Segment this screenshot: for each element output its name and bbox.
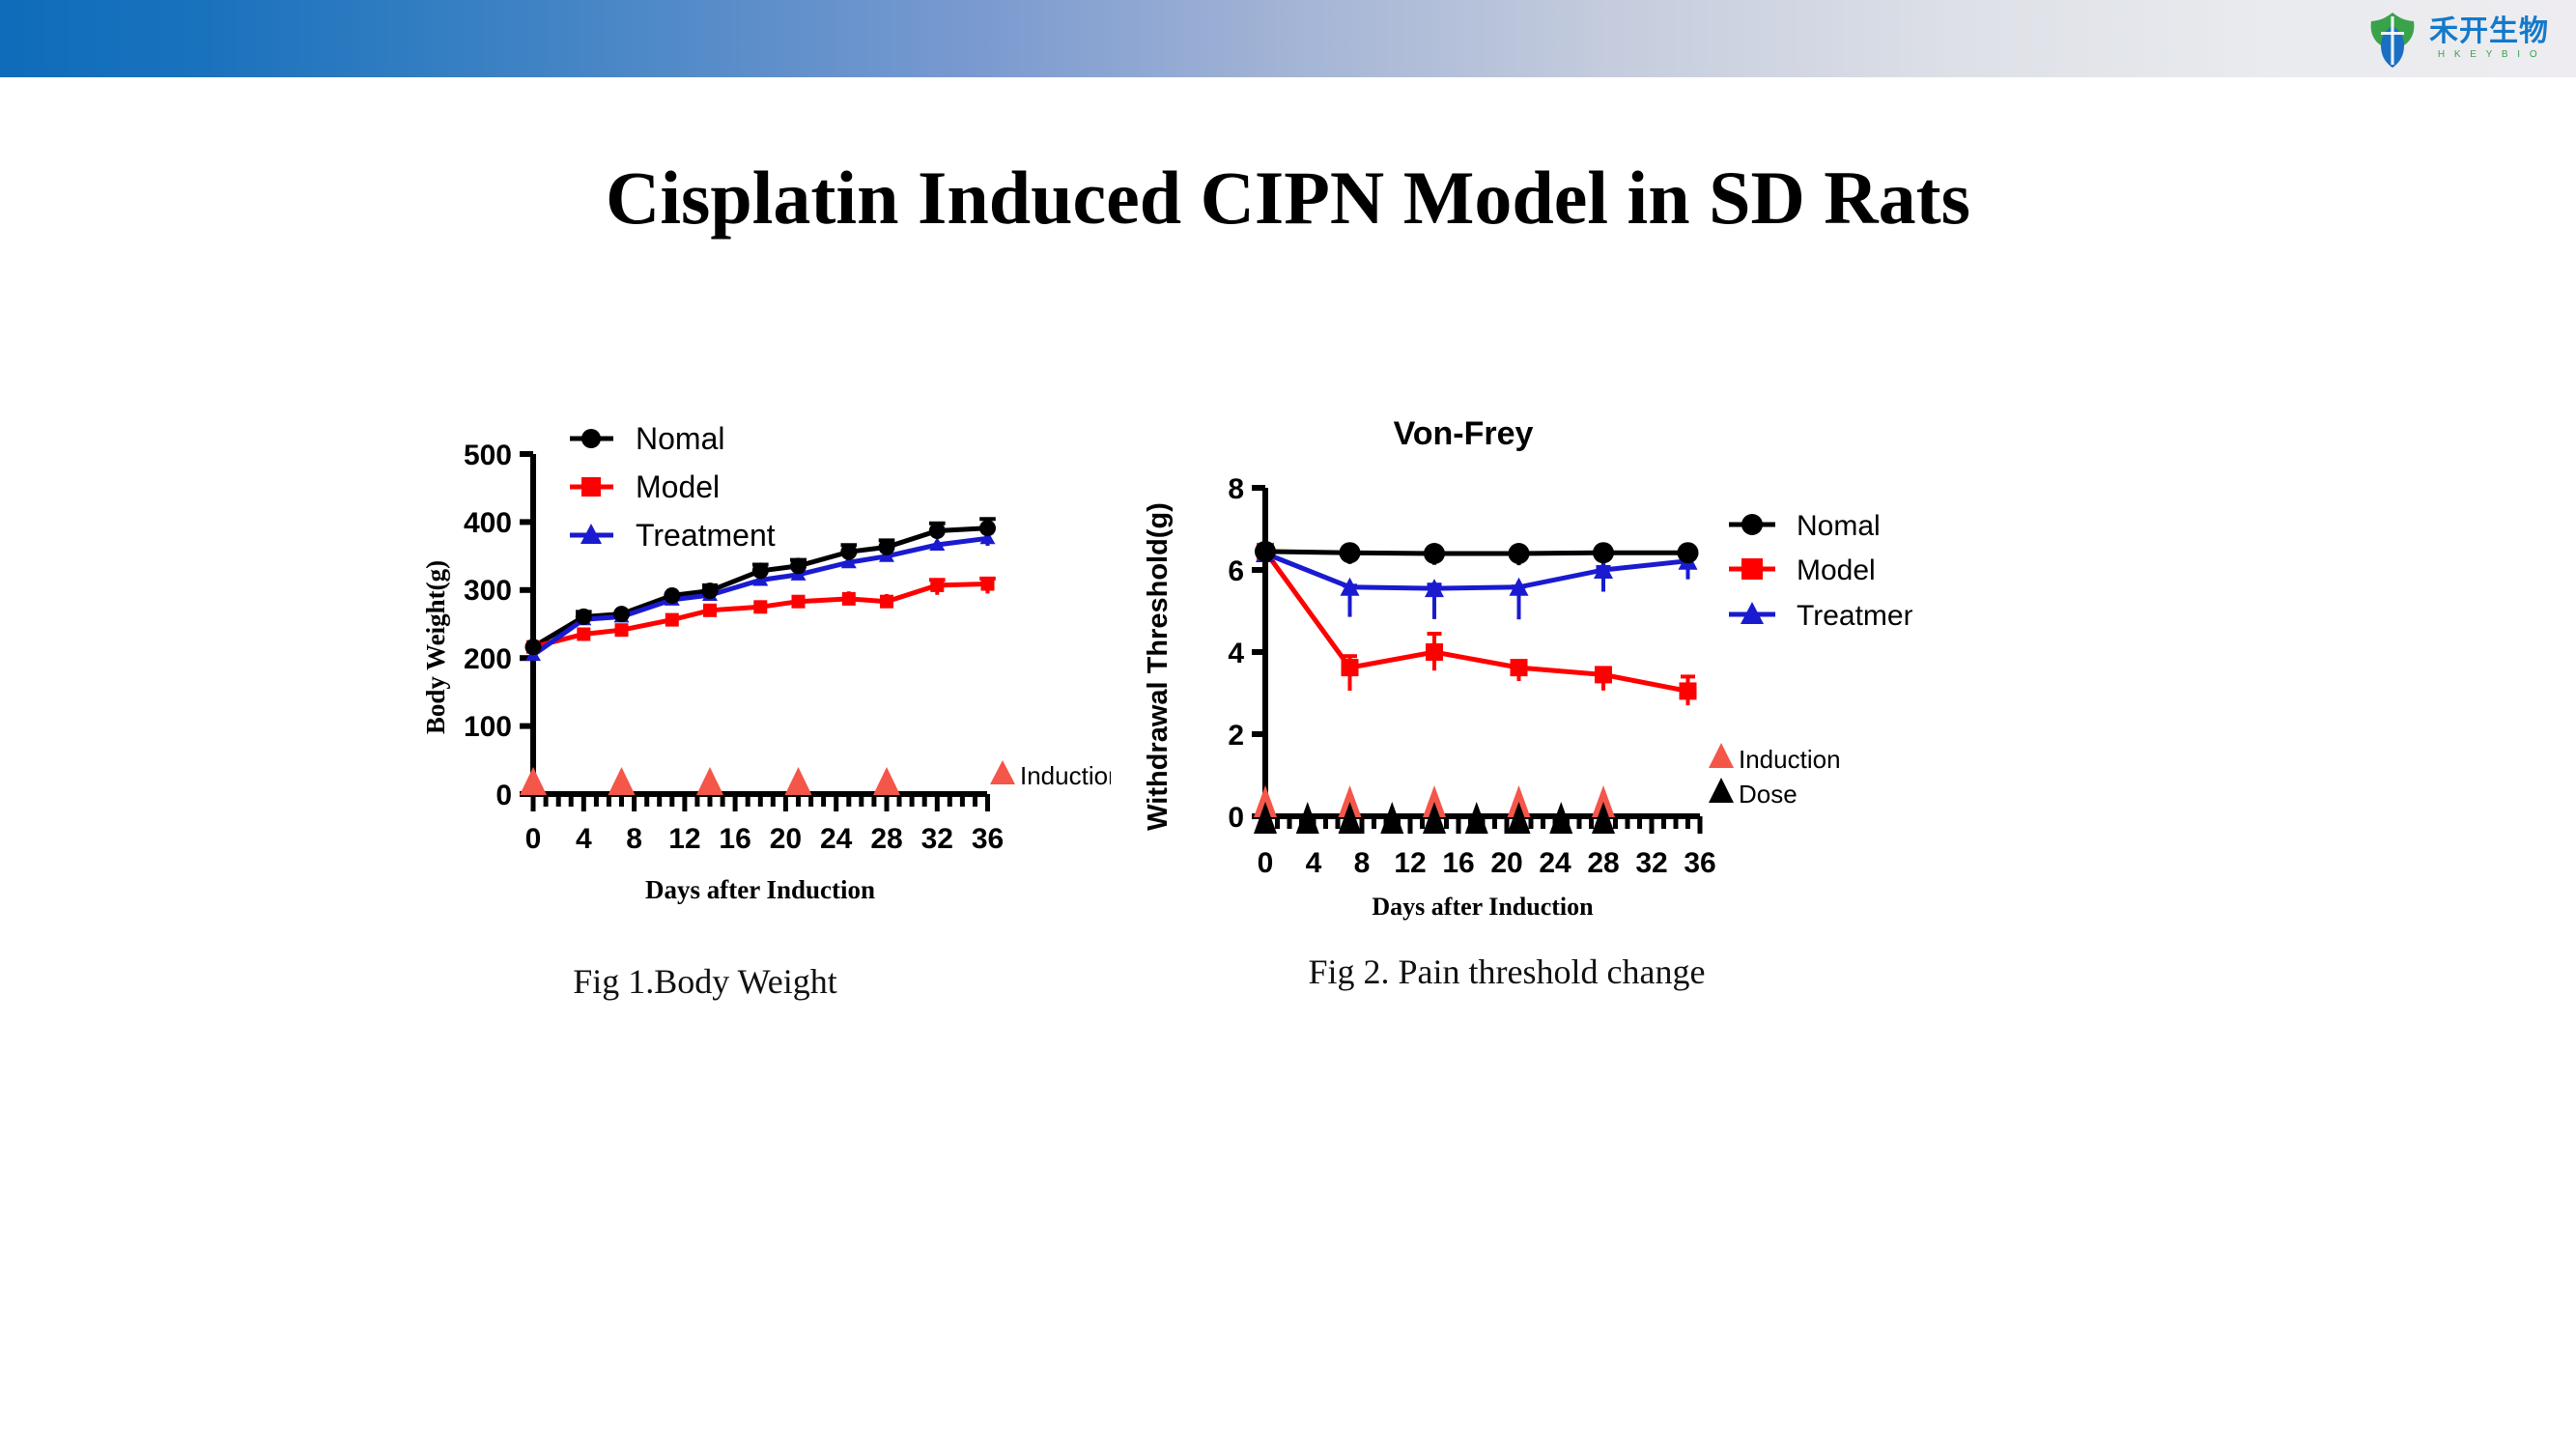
fig2-xtick-8: 8 <box>1354 847 1371 879</box>
fig2-ytick-8: 8 <box>1228 473 1244 505</box>
fig2-legend-label-treatment: Treatment <box>1797 600 1912 632</box>
fig1-xtick-4: 4 <box>576 823 592 855</box>
fig2-marker-key[interactable]: Induction Dose <box>1709 743 1841 809</box>
header-gradient-bar <box>0 0 2576 77</box>
fig2-axes <box>1265 488 1700 816</box>
fig1-xtick-20: 20 <box>770 823 802 855</box>
fig1-induction-key-label: Induction <box>1020 761 1111 790</box>
fig2-dose-markers <box>1254 802 1615 834</box>
fig2-chart-title: Von-Frey <box>1394 415 1534 452</box>
fig2-ytick-2: 2 <box>1228 720 1244 752</box>
fig1-legend-label-treatment: Treatment <box>636 518 776 553</box>
square-marker-icon <box>581 477 601 497</box>
fig2-xtick-24: 24 <box>1539 847 1571 879</box>
fig2-legend[interactable]: Nomal Model Treatment <box>1729 510 1912 632</box>
page-title: Cisplatin Induced CIPN Model in SD Rats <box>0 155 2576 241</box>
fig2-legend-item-treatment[interactable]: Treatment <box>1729 600 1912 632</box>
fig1-ytick-500: 500 <box>464 440 512 471</box>
fig1-xtick-12: 12 <box>668 823 700 855</box>
figure-pain-threshold: Von-Frey 0 2 4 6 8 Withdrawal Threshold(… <box>1120 411 1912 1009</box>
fig2-ytick-0: 0 <box>1228 802 1244 834</box>
fig2-xtick-36: 36 <box>1684 847 1715 879</box>
fig2-xtick-0: 0 <box>1258 847 1274 879</box>
fig1-x-axis-label: Days after Induction <box>645 875 875 904</box>
fig1-legend-item-nomal[interactable]: Nomal <box>570 421 724 456</box>
fig1-x-tick-labels: 0 4 8 12 16 20 24 28 32 36 <box>525 823 1005 855</box>
logo-company-name-cn: 禾开生物 <box>2429 17 2549 46</box>
fig1-ytick-300: 300 <box>464 575 512 607</box>
fig2-y-axis-label: Withdrawal Threshold(g) <box>1143 502 1174 831</box>
fig1-xtick-16: 16 <box>719 823 750 855</box>
fig1-series-treatment-line <box>533 538 988 655</box>
fig2-xtick-32: 32 <box>1635 847 1667 879</box>
fig1-caption: Fig 1.Body Weight <box>357 961 1053 1002</box>
fig2-dose-key[interactable]: Dose <box>1709 778 1798 809</box>
fig2-legend-item-model[interactable]: Model <box>1729 554 1876 586</box>
fig1-y-tick-labels: 0 100 200 300 400 500 <box>464 440 512 811</box>
logo-text: 禾开生物 H K E Y B I O <box>2429 17 2549 60</box>
fig2-series-treatment-line <box>1265 554 1688 588</box>
fig1-xtick-8: 8 <box>626 823 642 855</box>
induction-triangle-icon <box>1709 743 1734 768</box>
square-marker-icon <box>1741 558 1763 580</box>
fig2-caption: Fig 2. Pain threshold change <box>1111 952 1903 992</box>
fig2-ytick-6: 6 <box>1228 555 1244 587</box>
induction-triangle-icon <box>990 760 1015 784</box>
fig2-legend-label-model: Model <box>1797 554 1876 586</box>
fig1-axes <box>533 454 987 794</box>
circle-marker-icon <box>581 429 601 448</box>
fig2-xtick-12: 12 <box>1394 847 1426 879</box>
fig1-legend-item-treatment[interactable]: Treatment <box>570 518 776 553</box>
fig2-x-axis-label: Days after Induction <box>1372 893 1594 921</box>
fig2-series-normal-line <box>1265 552 1688 554</box>
fig2-x-tick-labels: 0 4 8 12 16 20 24 28 32 36 <box>1258 847 1716 879</box>
fig2-induction-key[interactable]: Induction <box>1709 743 1841 774</box>
fig2-plot: Von-Frey 0 2 4 6 8 Withdrawal Threshold(… <box>1120 411 1912 952</box>
fig1-y-axis-label: Body Weight(g) <box>421 560 450 734</box>
fig2-legend-label-nomal: Nomal <box>1797 510 1881 542</box>
fig1-induction-key[interactable]: Induction <box>990 760 1111 790</box>
fig2-series-model-line <box>1265 552 1688 692</box>
fig2-xtick-4: 4 <box>1306 847 1322 879</box>
fig2-dose-key-label: Dose <box>1739 780 1798 809</box>
dose-triangle-icon <box>1709 778 1734 803</box>
company-logo: 禾开生物 H K E Y B I O <box>2365 6 2549 71</box>
fig1-xtick-36: 36 <box>972 823 1004 855</box>
fig1-xtick-24: 24 <box>820 823 853 855</box>
circle-marker-icon <box>1741 514 1763 535</box>
fig1-legend-item-model[interactable]: Model <box>570 469 720 504</box>
fig1-ytick-100: 100 <box>464 711 512 743</box>
fig1-xtick-0: 0 <box>525 823 542 855</box>
fig1-legend-label-model: Model <box>636 469 720 504</box>
fig1-induction-markers <box>520 767 900 795</box>
fig2-ytick-4: 4 <box>1228 638 1244 669</box>
fig1-xtick-32: 32 <box>921 823 953 855</box>
fig2-xtick-20: 20 <box>1490 847 1522 879</box>
fig2-legend-item-nomal[interactable]: Nomal <box>1729 510 1881 542</box>
leaf-logo-icon <box>2365 9 2420 69</box>
fig1-ytick-400: 400 <box>464 507 512 539</box>
logo-company-name-en: H K E Y B I O <box>2438 50 2540 60</box>
fig2-xtick-16: 16 <box>1442 847 1474 879</box>
fig2-induction-key-label: Induction <box>1739 745 1841 774</box>
fig1-ytick-0: 0 <box>495 780 512 811</box>
fig1-legend-label-nomal: Nomal <box>636 421 724 456</box>
fig1-ytick-200: 200 <box>464 643 512 675</box>
figure-body-weight: 0 100 200 300 400 500 Body Weight(g) <box>415 415 1111 1014</box>
fig2-y-tick-labels: 0 2 4 6 8 <box>1228 473 1244 834</box>
fig1-plot: 0 100 200 300 400 500 Body Weight(g) <box>415 415 1111 956</box>
fig2-xtick-28: 28 <box>1587 847 1619 879</box>
fig1-xtick-28: 28 <box>870 823 902 855</box>
fig1-legend[interactable]: Nomal Model Treatment <box>570 421 776 553</box>
